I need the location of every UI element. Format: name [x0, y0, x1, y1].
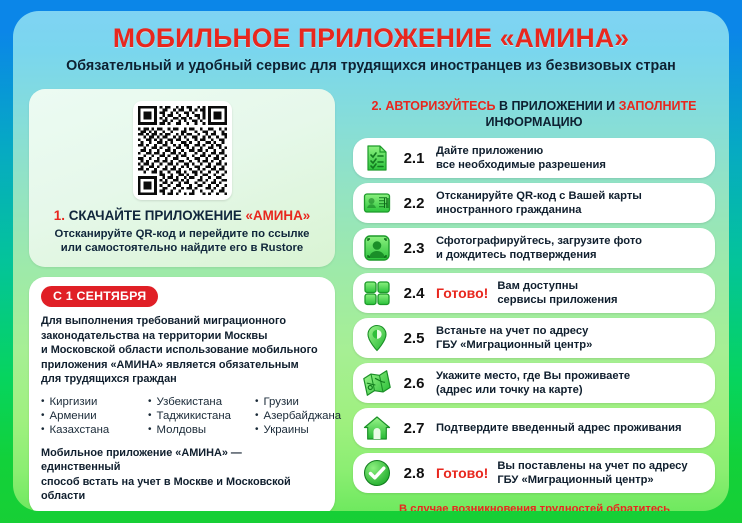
step-number: 2.3	[392, 240, 436, 257]
download-title-main: СКАЧАЙТЕ ПРИЛОЖЕНИЕ	[69, 208, 242, 223]
check-circle-icon	[362, 458, 392, 488]
step-text-line2: все необходимые разрешения	[436, 158, 606, 172]
qr-code-icon	[138, 106, 227, 195]
info-footer-line3: области	[41, 489, 323, 504]
download-step-number: 1.	[54, 208, 65, 223]
step-text-line2: сервисы приложения	[497, 293, 617, 307]
step-done-badge: Готово!	[436, 285, 488, 301]
download-instruction-line2: или самостоятельно найдите его в Rustore	[39, 241, 325, 255]
id-card-icon	[362, 188, 392, 218]
home-icon	[362, 413, 392, 443]
country-item: Грузии	[255, 396, 335, 408]
step-number: 2.8	[392, 465, 436, 482]
step-text: Подтвердите введенный адрес проживания	[436, 421, 682, 435]
qr-code[interactable]	[133, 101, 232, 200]
country-item: Таджикистана	[148, 410, 255, 422]
portrait-icon	[362, 233, 392, 263]
download-card: 1. СКАЧАЙТЕ ПРИЛОЖЕНИЕ «АМИНА» Отсканиру…	[29, 89, 335, 267]
page-subtitle: Обязательный и удобный сервис для трудящ…	[13, 59, 729, 75]
step-number: 2.1	[392, 150, 436, 167]
info-footer-line2: способ встать на учет в Москве и Московс…	[41, 475, 323, 490]
country-item: Азербайджана	[255, 410, 335, 422]
info-line-3: и Московской области использование мобил…	[41, 343, 323, 358]
right-heading-red1: АВТОРИЗУЙТЕСЬ	[385, 99, 495, 113]
step-text-line1: Отсканируйте QR-код с Вашей карты	[436, 189, 642, 203]
poster-panel: МОБИЛЬНОЕ ПРИЛОЖЕНИЕ «АМИНА» Обязательны…	[13, 11, 729, 511]
info-line-5: для трудящихся граждан	[41, 372, 323, 387]
country-item: Украины	[255, 424, 335, 436]
step-text-line2: иностранного гражданина	[436, 203, 642, 217]
step-number: 2.4	[392, 285, 436, 302]
left-column: 1. СКАЧАЙТЕ ПРИЛОЖЕНИЕ «АМИНА» Отсканиру…	[29, 89, 335, 511]
country-item: Армении	[41, 410, 148, 422]
step-number: 2.6	[392, 375, 436, 392]
right-heading-black1: В ПРИЛОЖЕНИИ И	[499, 99, 615, 113]
country-item: Казахстана	[41, 424, 148, 436]
step-card-2-7[interactable]: 2.7Подтвердите введенный адрес проживани…	[353, 408, 715, 448]
countries-list: Киргизии Узбекистана Грузии Армении Тадж…	[41, 396, 323, 436]
step-text-line1: Укажите место, где Вы проживаете	[436, 369, 630, 383]
step-text: Вы поставлены на учет по адресуГБУ «Мигр…	[497, 459, 687, 487]
step-card-2-8[interactable]: 2.8Готово!Вы поставлены на учет по адрес…	[353, 453, 715, 493]
download-title-app: «АМИНА»	[246, 208, 311, 223]
info-line-2: законодательства на территории Москвы	[41, 329, 323, 344]
step-text-line1: Встаньте на учет по адресу	[436, 324, 592, 338]
map-pin-icon	[362, 323, 392, 353]
download-title: 1. СКАЧАЙТЕ ПРИЛОЖЕНИЕ «АМИНА»	[39, 208, 325, 223]
step-card-2-2[interactable]: 2.2Отсканируйте QR-код с Вашей картыинос…	[353, 183, 715, 223]
country-item: Молдовы	[148, 424, 255, 436]
step-card-2-6[interactable]: 2.6Укажите место, где Вы проживаете(адре…	[353, 363, 715, 403]
step-text: Встаньте на учет по адресуГБУ «Миграцион…	[436, 324, 592, 352]
poster-header: МОБИЛЬНОЕ ПРИЛОЖЕНИЕ «АМИНА» Обязательны…	[13, 25, 729, 75]
hotline-line1: В случае возникновения трудностей обрати…	[399, 502, 715, 511]
step-card-2-5[interactable]: 2.5Встаньте на учет по адресуГБУ «Миграц…	[353, 318, 715, 358]
step-text-line2: (адрес или точку на карте)	[436, 383, 630, 397]
step-number: 2.7	[392, 420, 436, 437]
info-body: Для выполнения требований миграционного …	[41, 314, 323, 387]
info-line-1: Для выполнения требований миграционного	[41, 314, 323, 329]
step-text-line2: ГБУ «Миграционный центр»	[436, 338, 592, 352]
step-card-2-3[interactable]: 2.3Сфотографируйтесь, загрузите фотои до…	[353, 228, 715, 268]
step-number: 2.5	[392, 330, 436, 347]
info-line-4: приложения «АМИНА» является обязательным	[41, 358, 323, 373]
date-badge: С 1 СЕНТЯБРЯ	[41, 286, 158, 307]
right-heading: 2. АВТОРИЗУЙТЕСЬ В ПРИЛОЖЕНИИ И ЗАПОЛНИТ…	[353, 99, 715, 130]
right-heading-number: 2.	[371, 99, 381, 113]
poster-root: МОБИЛЬНОЕ ПРИЛОЖЕНИЕ «АМИНА» Обязательны…	[0, 0, 742, 523]
step-text-line1: Дайте приложению	[436, 144, 606, 158]
right-heading-red2: ЗАПОЛНИТЕ	[619, 99, 697, 113]
steps-list: 2.1Дайте приложениювсе необходимые разре…	[353, 138, 715, 493]
step-number: 2.2	[392, 195, 436, 212]
step-text: Вам доступнысервисы приложения	[497, 279, 617, 307]
right-heading-black2: ИНФОРМАЦИЮ	[353, 115, 715, 131]
right-column: 2. АВТОРИЗУЙТЕСЬ В ПРИЛОЖЕНИИ И ЗАПОЛНИТ…	[353, 99, 715, 511]
country-item: Узбекистана	[148, 396, 255, 408]
step-card-2-1[interactable]: 2.1Дайте приложениювсе необходимые разре…	[353, 138, 715, 178]
grid-apps-icon	[362, 278, 392, 308]
step-done-badge: Готово!	[436, 465, 488, 481]
step-text: Дайте приложениювсе необходимые разрешен…	[436, 144, 606, 172]
step-text: Отсканируйте QR-код с Вашей картыиностра…	[436, 189, 642, 217]
step-text-line1: Подтвердите введенный адрес проживания	[436, 421, 682, 435]
hotline-note: В случае возникновения трудностей обрати…	[353, 502, 715, 511]
checklist-icon	[362, 143, 392, 173]
step-text-line2: и дождитесь подтверждения	[436, 248, 642, 262]
folded-map-icon	[362, 368, 392, 398]
download-instruction-line1: Отсканируйте QR-код и перейдите по ссылк…	[39, 227, 325, 241]
step-text-line1: Вам доступны	[497, 279, 617, 293]
info-line-4b: обязательным	[219, 359, 299, 371]
info-card: С 1 СЕНТЯБРЯ Для выполнения требований м…	[29, 277, 335, 511]
step-text-line1: Сфотографируйтесь, загрузите фото	[436, 234, 642, 248]
info-line-4a: приложения «АМИНА» является	[41, 359, 219, 371]
country-item: Киргизии	[41, 396, 148, 408]
step-text: Укажите место, где Вы проживаете(адрес и…	[436, 369, 630, 397]
step-text: Сфотографируйтесь, загрузите фотои дожди…	[436, 234, 642, 262]
step-text-line1: Вы поставлены на учет по адресу	[497, 459, 687, 473]
info-footer: Мобильное приложение «АМИНА» — единствен…	[41, 446, 323, 504]
step-text-line2: ГБУ «Миграционный центр»	[497, 473, 687, 487]
info-footer-line1: Мобильное приложение «АМИНА» — единствен…	[41, 446, 323, 475]
page-title: МОБИЛЬНОЕ ПРИЛОЖЕНИЕ «АМИНА»	[13, 25, 729, 53]
download-instruction: Отсканируйте QR-код и перейдите по ссылк…	[39, 227, 325, 255]
step-card-2-4[interactable]: 2.4Готово!Вам доступнысервисы приложения	[353, 273, 715, 313]
